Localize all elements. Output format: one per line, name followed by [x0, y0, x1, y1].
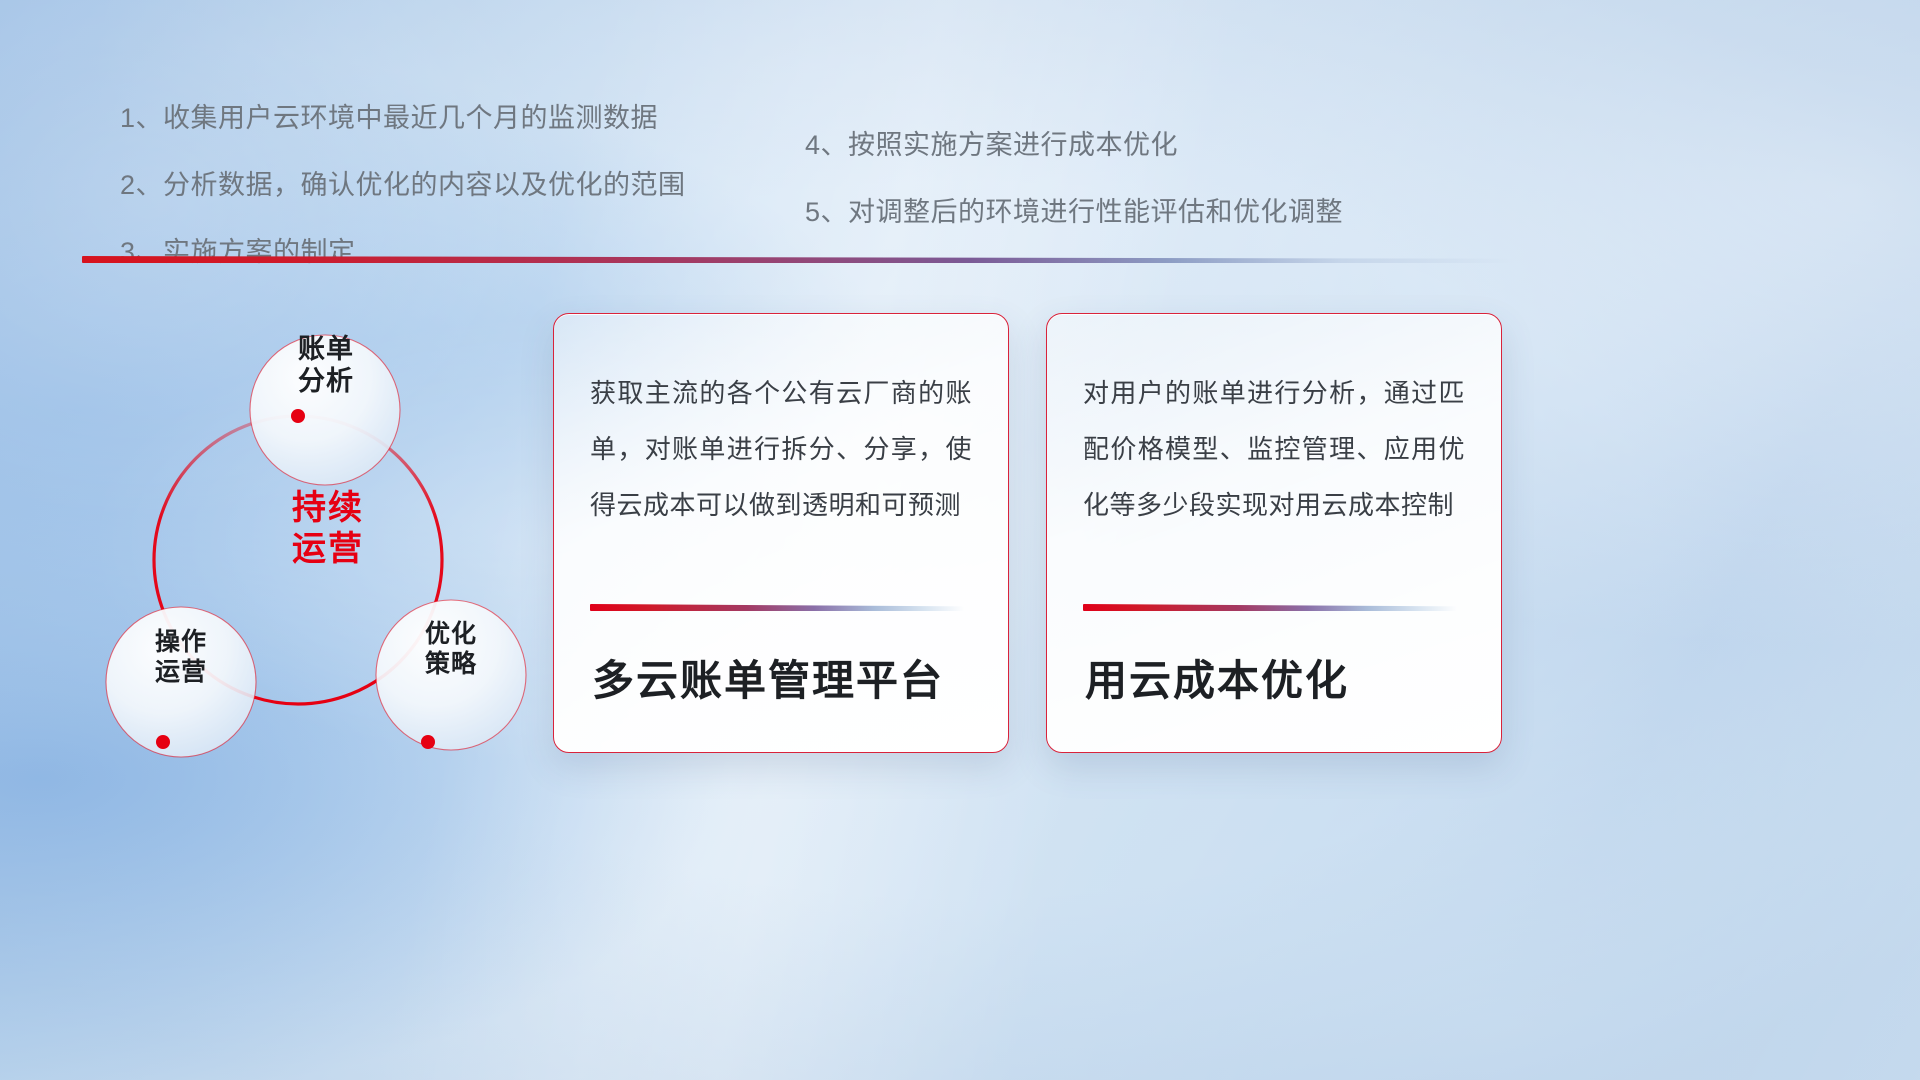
card-body-text: 获取主流的各个公有云厂商的账单，对账单进行拆分、分享，使得云成本可以做到透明和可…: [590, 366, 972, 534]
venn-node-dot-top: [291, 409, 305, 423]
process-step-4: 4、按照实施方案进行成本优化: [805, 123, 1343, 162]
card-divider-rule: [590, 604, 964, 611]
process-step-5: 5、对调整后的环境进行性能评估和优化调整: [805, 190, 1343, 229]
card-title: 用云成本优化: [1085, 647, 1465, 708]
venn-node-dot-bottom-left: [156, 735, 170, 749]
venn-label-billing-analysis: 账单 分析: [264, 334, 388, 398]
process-steps-right: 4、按照实施方案进行成本优化 5、对调整后的环境进行性能评估和优化调整: [805, 123, 1343, 257]
card-title: 多云账单管理平台: [592, 647, 972, 708]
process-step-3: 3、实施方案的制定: [120, 230, 686, 269]
venn-center-label: 持续 运营: [238, 488, 418, 570]
venn-label-optimize-policy: 优化 策略: [396, 620, 506, 679]
card-body-text: 对用户的账单进行分析，通过匹配价格模型、监控管理、应用优化等多少段实现对用云成本…: [1083, 366, 1465, 534]
card-multi-cloud-bill-platform[interactable]: 获取主流的各个公有云厂商的账单，对账单进行拆分、分享，使得云成本可以做到透明和可…: [553, 313, 1009, 753]
process-step-2: 2、分析数据，确认优化的内容以及优化的范围: [120, 163, 686, 202]
process-step-1: 1、收集用户云环境中最近几个月的监测数据: [120, 96, 686, 135]
card-cloud-cost-optimization[interactable]: 对用户的账单进行分析，通过匹配价格模型、监控管理、应用优化等多少段实现对用云成本…: [1046, 313, 1502, 753]
card-divider-rule: [1083, 604, 1457, 611]
venn-node-dot-bottom-right: [421, 735, 435, 749]
venn-label-operation-ops: 操作 运营: [126, 628, 236, 687]
continuous-operation-venn-diagram: 账单 分析 操作 运营 优化 策略 持续 运营: [78, 292, 548, 762]
process-steps-left: 1、收集用户云环境中最近几个月的监测数据 2、分析数据，确认优化的内容以及优化的…: [120, 96, 686, 297]
